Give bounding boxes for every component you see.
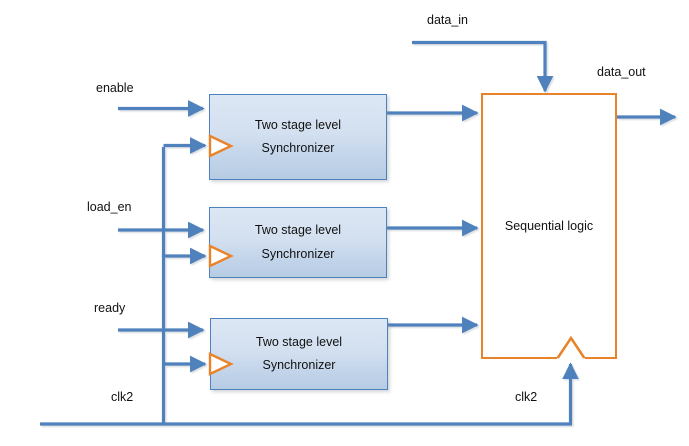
label-clk2-right: clk2 [515, 390, 537, 404]
sync-block-1-line2: Synchronizer [262, 137, 335, 160]
sync-block-2-line1: Two stage level [255, 219, 341, 242]
sync-block-2-line2: Synchronizer [262, 243, 335, 266]
label-ready: ready [94, 301, 125, 315]
sync-block-2[interactable]: Two stage level Synchronizer [209, 207, 387, 278]
sequential-logic-label: Sequential logic [505, 219, 593, 233]
label-data-out: data_out [597, 65, 646, 79]
wire-data-in [412, 43, 545, 92]
clock-marker-sequential-icon [554, 334, 588, 362]
label-clk2-left: clk2 [111, 390, 133, 404]
label-data-in: data_in [427, 13, 468, 27]
clock-marker-sync1-icon [208, 134, 234, 158]
sync-block-1-line1: Two stage level [255, 114, 341, 137]
clock-marker-sync2-icon [208, 244, 234, 268]
clock-marker-sync3-icon [208, 352, 234, 376]
sync-block-3-line2: Synchronizer [263, 354, 336, 377]
sync-block-3[interactable]: Two stage level Synchronizer [210, 318, 388, 390]
label-load-en: load_en [87, 200, 132, 214]
label-enable: enable [96, 81, 134, 95]
diagram-canvas: Two stage level Synchronizer Two stage l… [0, 0, 689, 446]
sync-block-1[interactable]: Two stage level Synchronizer [209, 94, 387, 180]
sequential-logic-block[interactable]: Sequential logic [481, 93, 617, 359]
sync-block-3-line1: Two stage level [256, 331, 342, 354]
